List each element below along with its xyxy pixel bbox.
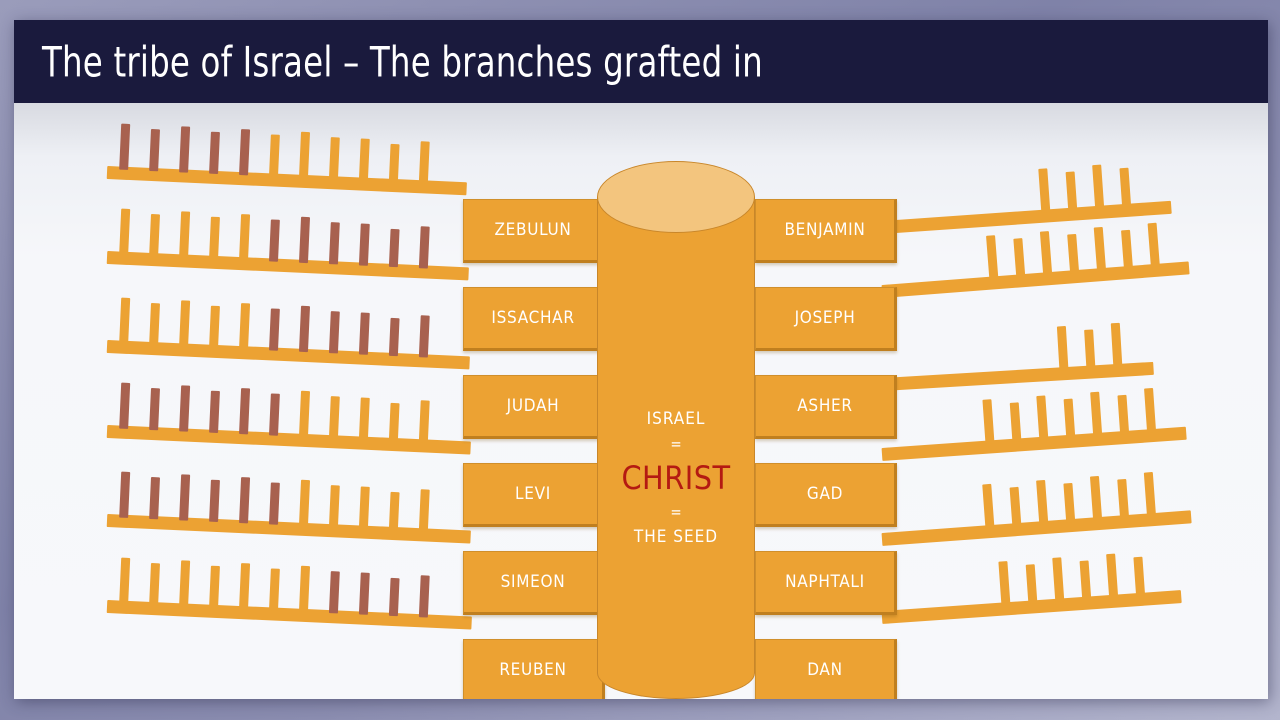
natural-twig xyxy=(239,563,250,609)
natural-twig xyxy=(119,558,130,604)
natural-twig xyxy=(1090,476,1102,521)
natural-twig xyxy=(359,486,370,528)
grafted-twig xyxy=(179,474,190,520)
natural-twig xyxy=(239,303,250,349)
natural-twig xyxy=(389,492,400,530)
natural-twig xyxy=(1117,479,1129,519)
branch-stem xyxy=(107,166,467,195)
grafted-twig xyxy=(329,222,340,264)
tribe-box-gad[interactable]: GAD xyxy=(755,463,897,527)
natural-twig xyxy=(179,560,190,606)
natural-twig xyxy=(1133,557,1145,597)
natural-twig xyxy=(1121,230,1133,270)
natural-twig xyxy=(119,209,130,255)
grafted-twig xyxy=(269,482,280,524)
branch-right-2 xyxy=(882,261,1190,298)
natural-twig xyxy=(998,561,1010,606)
tribe-box-issachar[interactable]: ISSACHAR xyxy=(463,287,605,351)
tribe-label: JUDAH xyxy=(507,396,560,416)
natural-twig xyxy=(359,397,370,439)
center-cylinder: ISRAEL = CHRIST = THE SEED xyxy=(597,161,755,699)
grafted-twig xyxy=(149,388,160,430)
natural-twig xyxy=(1040,231,1052,276)
natural-twig xyxy=(149,214,160,256)
center-line-israel: ISRAEL xyxy=(597,406,755,432)
center-equals-2: = xyxy=(597,500,755,524)
grafted-twig xyxy=(389,578,400,616)
natural-twig xyxy=(209,306,220,348)
natural-twig xyxy=(329,396,340,438)
natural-twig xyxy=(1080,560,1092,600)
branch-left-6 xyxy=(107,600,472,630)
natural-twig xyxy=(982,484,994,529)
branch-stem xyxy=(107,514,471,543)
grafted-twig xyxy=(149,129,160,171)
tribe-box-levi[interactable]: LEVI xyxy=(463,463,605,527)
tribe-box-zebulun[interactable]: ZEBULUN xyxy=(463,199,605,263)
tribe-label: NAPHTALI xyxy=(785,572,865,592)
grafted-twig xyxy=(419,575,430,617)
branch-stem xyxy=(107,251,469,280)
cylinder-label-group: ISRAEL = CHRIST = THE SEED xyxy=(597,406,755,550)
tribe-label: JOSEPH xyxy=(795,308,856,328)
grafted-twig xyxy=(299,306,310,352)
tribe-box-dan[interactable]: DAN xyxy=(755,639,897,699)
grafted-twig xyxy=(119,124,130,170)
grafted-twig xyxy=(329,311,340,353)
grafted-twig xyxy=(239,477,250,523)
natural-twig xyxy=(1010,487,1022,527)
natural-twig xyxy=(419,489,430,531)
natural-twig xyxy=(1052,557,1064,602)
tribe-label: SIMEON xyxy=(501,572,566,592)
grafted-twig xyxy=(329,571,340,613)
grafted-twig xyxy=(209,391,220,433)
natural-twig xyxy=(1084,329,1095,368)
natural-twig xyxy=(1067,234,1079,274)
branch-left-3 xyxy=(107,340,470,369)
natural-twig xyxy=(269,568,280,610)
natural-twig xyxy=(179,300,190,346)
tribe-box-simeon[interactable]: SIMEON xyxy=(463,551,605,615)
branch-stem xyxy=(882,510,1192,546)
natural-twig xyxy=(1092,165,1104,210)
slide: The tribe of Israel – The branches graft… xyxy=(14,20,1268,699)
branch-right-6 xyxy=(882,590,1182,624)
center-equals-1: = xyxy=(597,432,755,456)
tribe-label: GAD xyxy=(807,484,843,504)
grafted-twig xyxy=(269,393,280,435)
grafted-twig xyxy=(119,472,130,518)
tribe-label: ZEBULUN xyxy=(494,220,571,240)
natural-twig xyxy=(1066,171,1078,211)
branch-left-5 xyxy=(107,514,471,543)
tribe-label: ASHER xyxy=(797,396,852,416)
natural-twig xyxy=(1036,480,1048,525)
tribe-box-judah[interactable]: JUDAH xyxy=(463,375,605,439)
natural-twig xyxy=(299,480,310,526)
center-line-the-seed: THE SEED xyxy=(597,524,755,550)
natural-twig xyxy=(329,485,340,527)
natural-twig xyxy=(1144,388,1156,433)
branch-right-3 xyxy=(882,362,1154,391)
natural-twig xyxy=(419,141,430,183)
natural-twig xyxy=(1026,564,1038,604)
center-line-christ: CHRIST xyxy=(597,456,755,500)
tribe-label: BENJAMIN xyxy=(784,220,865,240)
grafted-twig xyxy=(299,217,310,263)
natural-twig xyxy=(389,403,400,441)
grafted-twig xyxy=(269,308,280,350)
slide-title-bar: The tribe of Israel – The branches graft… xyxy=(14,20,1268,103)
natural-twig xyxy=(389,144,400,182)
grafted-twig xyxy=(389,229,400,267)
grafted-twig xyxy=(209,480,220,522)
natural-twig xyxy=(1010,402,1022,442)
grafted-twig xyxy=(419,226,430,268)
grafted-twig xyxy=(209,132,220,174)
natural-twig xyxy=(1090,392,1102,437)
natural-twig xyxy=(986,235,998,280)
slide-content: ZEBULUNISSACHARJUDAHLEVISIMEONREUBEN BEN… xyxy=(14,103,1268,699)
natural-twig xyxy=(149,563,160,605)
natural-twig xyxy=(359,138,370,180)
natural-twig xyxy=(119,298,130,344)
natural-twig xyxy=(299,132,310,178)
grafted-twig xyxy=(359,572,370,614)
natural-twig xyxy=(1057,326,1069,370)
grafted-twig xyxy=(179,385,190,431)
natural-twig xyxy=(1063,483,1075,523)
natural-twig xyxy=(1106,554,1118,599)
tribe-label: LEVI xyxy=(515,484,551,504)
tribe-box-asher[interactable]: ASHER xyxy=(755,375,897,439)
branch-stem xyxy=(107,425,471,454)
tribe-box-reuben[interactable]: REUBEN xyxy=(463,639,605,699)
branch-right-5 xyxy=(882,510,1192,546)
tribe-box-naphtali[interactable]: NAPHTALI xyxy=(755,551,897,615)
branch-stem xyxy=(882,261,1190,298)
grafted-twig xyxy=(179,126,190,172)
natural-twig xyxy=(269,134,280,176)
tribe-box-joseph[interactable]: JOSEPH xyxy=(755,287,897,351)
natural-twig xyxy=(329,137,340,179)
grafted-twig xyxy=(359,312,370,354)
natural-twig xyxy=(982,399,994,444)
branch-left-1 xyxy=(107,166,467,195)
grafted-twig xyxy=(119,383,130,429)
branch-stem xyxy=(107,340,470,369)
branch-right-4 xyxy=(882,427,1187,461)
branch-left-4 xyxy=(107,425,471,454)
natural-twig xyxy=(1119,168,1131,208)
branch-left-2 xyxy=(107,251,469,280)
natural-twig xyxy=(299,566,310,612)
natural-twig xyxy=(299,391,310,437)
tribe-label: REUBEN xyxy=(499,660,566,680)
branch-stem xyxy=(107,600,472,630)
natural-twig xyxy=(1036,395,1048,440)
natural-twig xyxy=(1094,227,1106,272)
natural-twig xyxy=(239,214,250,260)
natural-twig xyxy=(179,211,190,257)
grafted-twig xyxy=(239,129,250,175)
cylinder-top-ellipse xyxy=(597,161,755,233)
natural-twig xyxy=(209,217,220,259)
natural-twig xyxy=(1064,399,1076,439)
branch-stem xyxy=(882,427,1187,461)
natural-twig xyxy=(1111,323,1123,367)
tribe-label: DAN xyxy=(807,660,842,680)
grafted-twig xyxy=(359,223,370,265)
grafted-twig xyxy=(239,388,250,434)
natural-twig xyxy=(1038,168,1050,213)
natural-twig xyxy=(149,303,160,345)
natural-twig xyxy=(419,400,430,442)
natural-twig xyxy=(1144,472,1156,517)
natural-twig xyxy=(1013,238,1025,278)
natural-twig xyxy=(209,566,220,608)
tribe-box-benjamin[interactable]: BENJAMIN xyxy=(755,199,897,263)
grafted-twig xyxy=(149,477,160,519)
natural-twig xyxy=(1117,395,1129,435)
tribe-label: ISSACHAR xyxy=(491,308,574,328)
natural-twig xyxy=(1148,223,1160,268)
grafted-twig xyxy=(269,219,280,261)
grafted-twig xyxy=(419,315,430,357)
grafted-twig xyxy=(389,318,400,356)
page-title: The tribe of Israel – The branches graft… xyxy=(42,37,763,86)
